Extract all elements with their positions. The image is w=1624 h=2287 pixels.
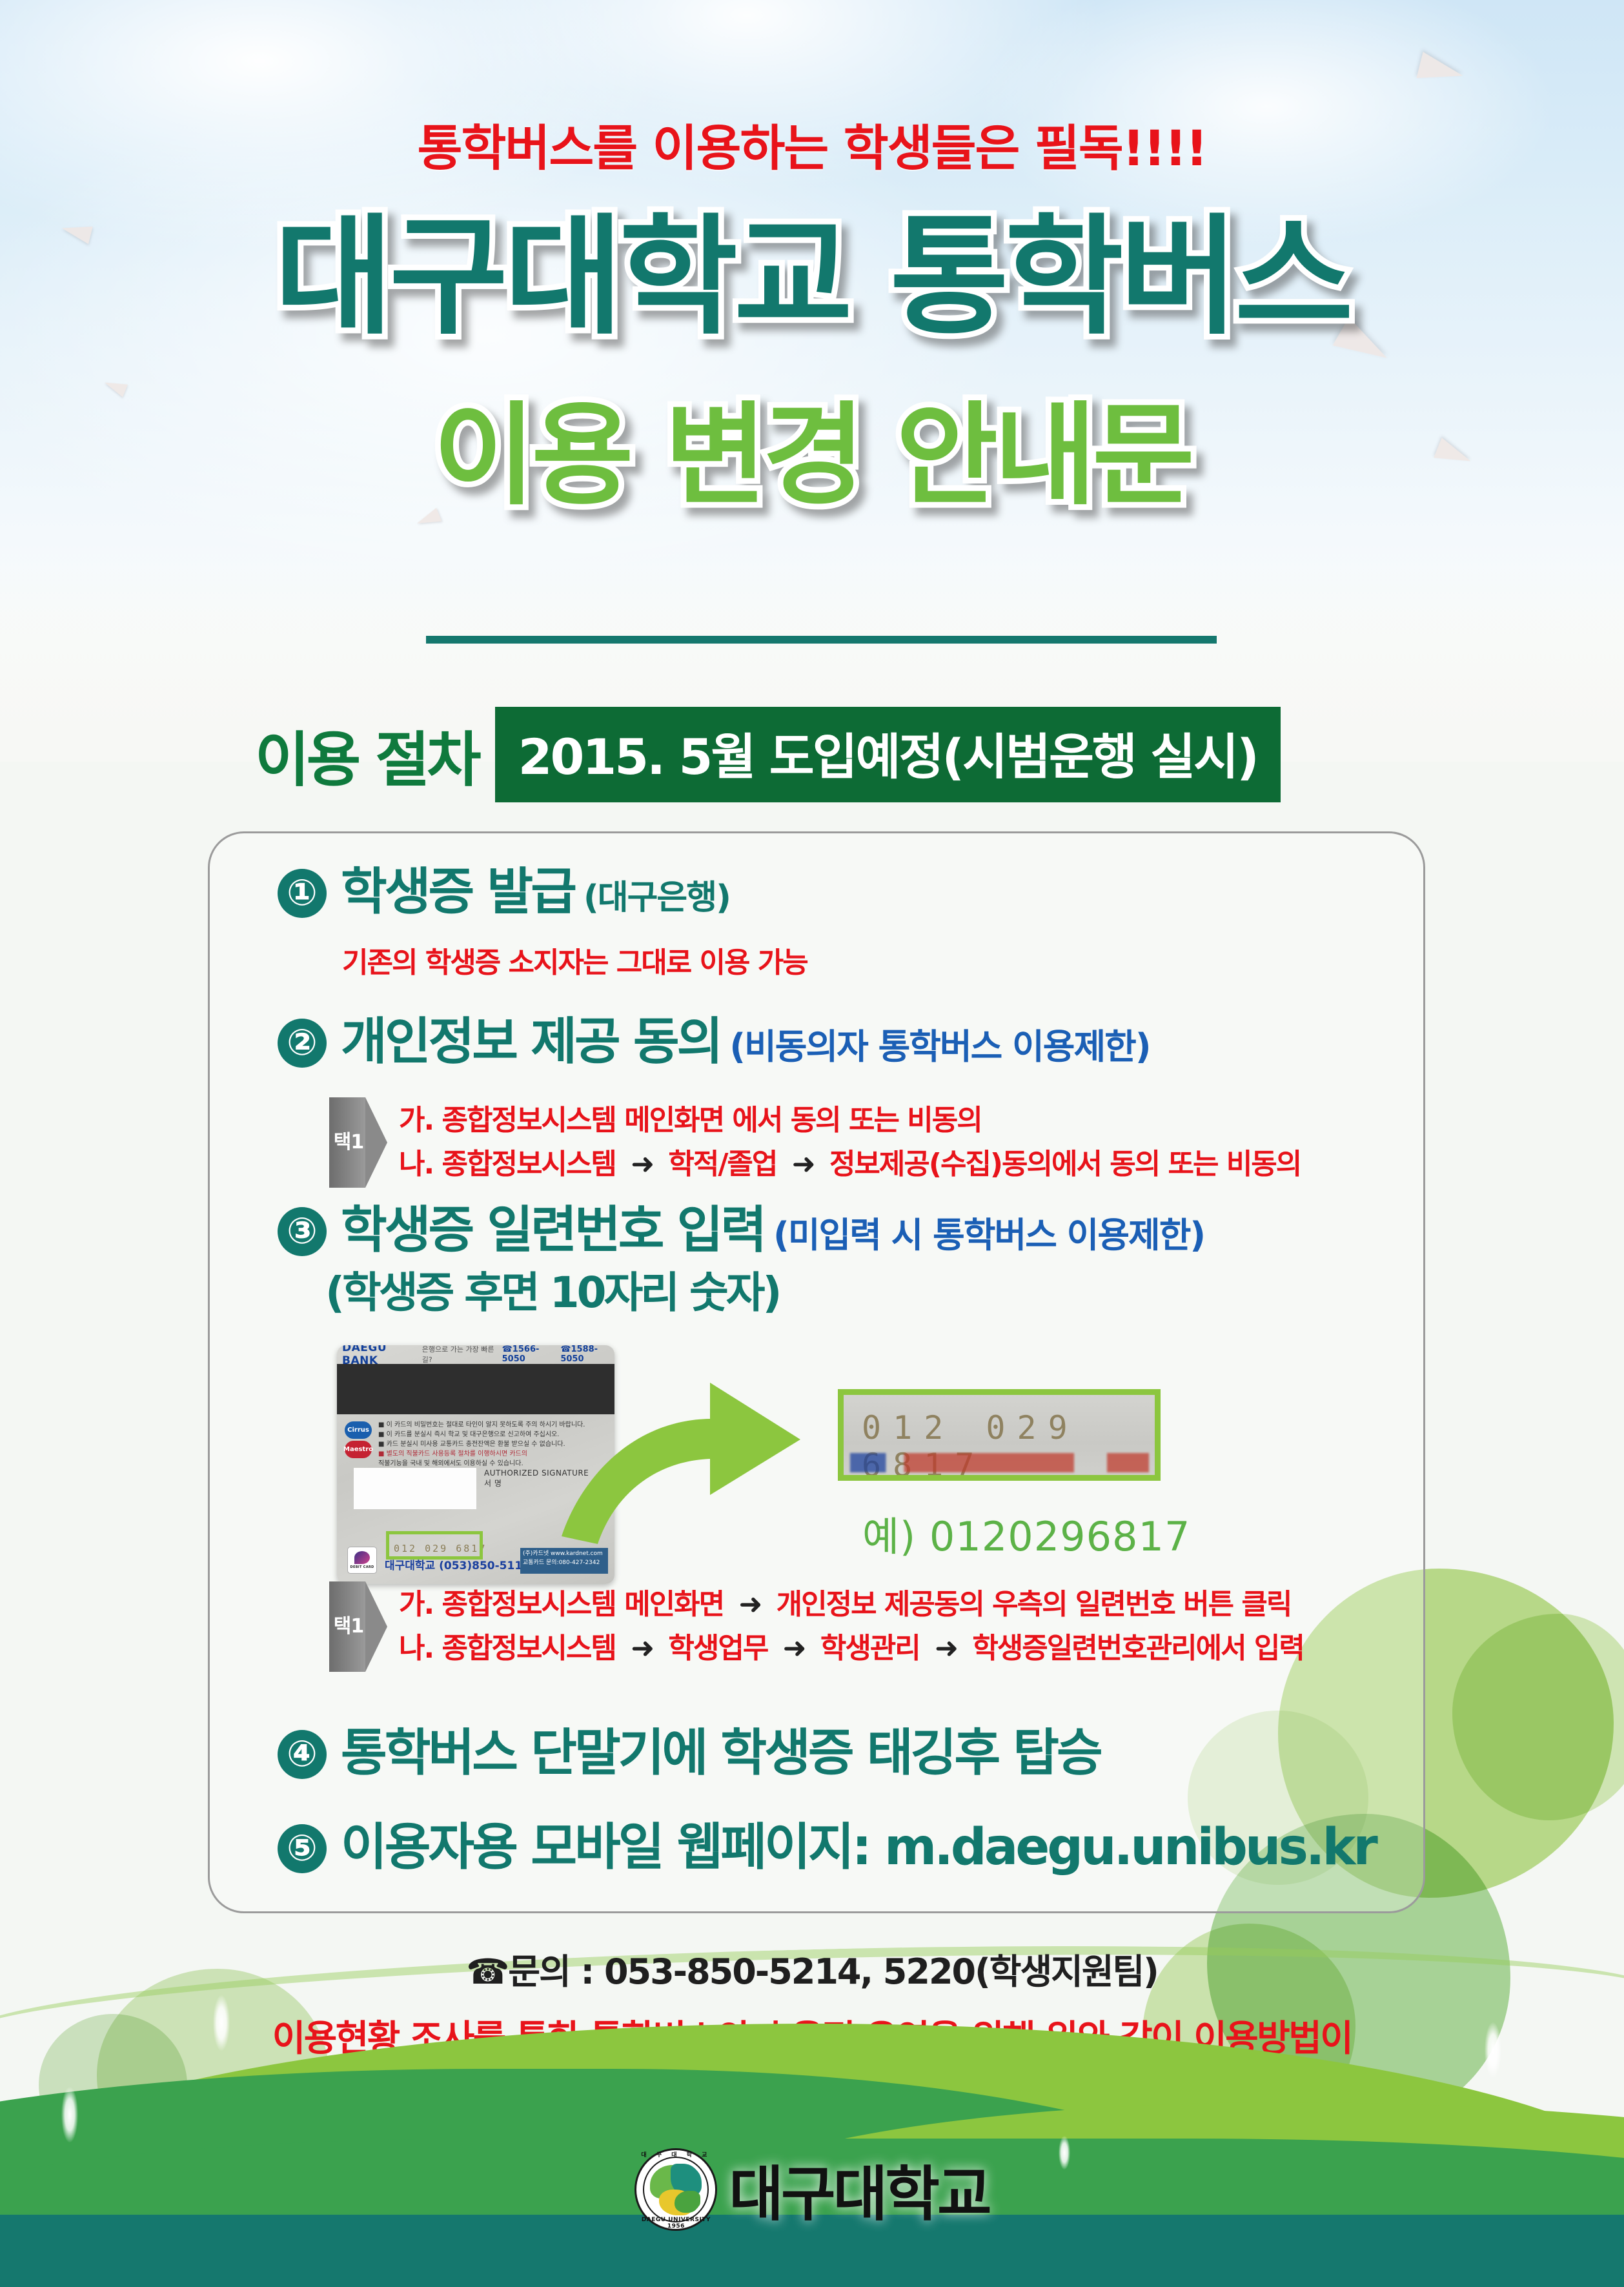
arrow-right-icon: ➜ [732,1588,767,1621]
cirrus-logo: Cirrus [345,1421,372,1439]
choice-2-line-b-part3: 학생관리 [820,1632,920,1665]
card-serial-highlight-box [386,1531,483,1560]
choice-1-line-a: 가. 종합정보시스템 메인화면 에서 동의 또는 비동의 [399,1099,1301,1143]
step-3-number: ③ [278,1207,327,1256]
step-4-number: ④ [278,1730,327,1779]
choice-2-line-b-part4: 학생증일련번호관리에서 입력 [972,1632,1304,1665]
serial-example-label: 예) 0120296817 [862,1504,1190,1562]
choice-1-line-b: 나. 종합정보시스템 ➜ 학적/졸업 ➜ 정보제공(수집)동의에서 동의 또는 … [399,1143,1301,1186]
poster-title-line2-text: 이용 변경 안내문 [433,400,1190,511]
step-5: ⑤ 이용자용 모바일 웹페이지: m.daegu.unibus.kr [278,1819,1375,1877]
debit-card-label: DEBIT CARD [350,1565,374,1569]
signature-box [354,1468,476,1509]
step-5-number: ⑤ [278,1824,327,1873]
university-name: 대구대학교 [729,2146,989,2232]
step-2-paren: (비동의자 통학버스 이용제한) [729,1018,1150,1069]
step-5-title: 이용자용 모바일 웹페이지: m.daegu.unibus.kr [341,1819,1375,1877]
choice-2-line-b-part2: 학생업무 [668,1632,767,1665]
step-3-subtitle: (학생증 후면 10자리 숫자) [325,1268,780,1317]
arrow-right-icon: ➜ [776,1632,812,1665]
maestro-logo: Maestro [345,1441,372,1458]
step-1: ① 학생증 발급 (대구은행) [278,864,730,922]
choice-2-line-a: 가. 종합정보시스템 메인화면 ➜ 개인정보 제공동의 우측의 일련번호 버튼 … [399,1583,1304,1627]
serial-zoom-blurred-line [850,1453,1149,1472]
choice-1-line-b-part2: 학적/졸업 [668,1148,776,1181]
emblem-korean-text: 대 구 대 학 교 [634,2150,717,2159]
choice-1-line-a-text: 가. 종합정보시스템 메인화면 에서 동의 또는 비동의 [399,1104,982,1137]
serial-zoom-callout: 012 029 6817 [838,1389,1161,1481]
step-3: ③ 학생증 일련번호 입력 (미입력 시 통학버스 이용제한) [278,1202,1204,1260]
step-1-number: ① [278,869,327,918]
choice-2-line-b-part1: 나. 종합정보시스템 [399,1632,616,1665]
arrow-right-icon: ➜ [786,1148,821,1181]
kicker-headline: 통학버스를 이용하는 학생들은 필독!!!! [0,108,1624,179]
choice-block-2: 택1 가. 종합정보시스템 메인화면 ➜ 개인정보 제공동의 우측의 일련번호 … [329,1581,1304,1672]
choice-1-line-b-part1: 나. 종합정보시스템 [399,1148,616,1181]
arrow-right-icon: ➜ [624,1632,660,1665]
card-university-line: 대구대학교 (053)850-5114 [385,1556,530,1572]
arrow-right-icon: ➜ [624,1148,660,1181]
step-2-number: ② [278,1019,327,1068]
choice-marker-arrow-icon: 택1 [329,1581,385,1672]
step-3-paren: (미입력 시 통학버스 이용제한) [773,1206,1204,1257]
university-emblem-icon: 대 구 대 학 교 DAEGU UNIVERSITY 1956 [634,2148,717,2231]
choice-marker-arrow-icon: 택1 [329,1097,385,1188]
choice-1-marker-top: 택 [334,1131,351,1154]
choice-1-marker-bottom: 1 [350,1131,363,1154]
section-header: 이용 절차 2015. 5월 도입예정(시범운행 실시) [255,707,1281,802]
step-1-title: 학생증 발급 [341,864,574,922]
kardnet-tel: 교통카드 문의:080-427-2342 [523,1559,605,1568]
step-2: ② 개인정보 제공 동의 (비동의자 통학버스 이용제한) [278,1013,1150,1072]
step-4: ④ 통학버스 단말기에 학생증 태깅후 탑승 [278,1725,1101,1783]
choice-2-line-a-part1: 가. 종합정보시스템 메인화면 [399,1588,724,1621]
step-4-title: 통학버스 단말기에 학생증 태깅후 탑승 [341,1725,1101,1783]
step-1-paren: (대구은행) [584,870,730,919]
poster-title-line1-text: 대구대학교 통학버스 [274,213,1350,342]
green-hills-background [0,1984,1624,2287]
choice-2-line-a-part2: 개인정보 제공동의 우측의 일련번호 버튼 클릭 [776,1588,1292,1621]
poster-root: 통학버스를 이용하는 학생들은 필독!!!! 대구대학교 통학버스 이용 변경 … [0,0,1624,2287]
choice-2-marker-bottom: 1 [350,1615,363,1638]
green-curved-arrow-icon [542,1343,878,1556]
debit-card-badge: DEBIT CARD [347,1547,377,1574]
card-network-logos: Cirrus Maestro [345,1421,373,1460]
section-label: 이용 절차 [255,712,478,798]
debit-swirl-icon [354,1551,370,1564]
bank-slogan: 은행으로 가는 가장 빠른 길? [422,1345,498,1365]
arrow-right-icon: ➜ [928,1632,964,1665]
poster-title-line1: 대구대학교 통학버스 [0,213,1624,342]
choice-2-line-b: 나. 종합정보시스템 ➜ 학생업무 ➜ 학생관리 ➜ 학생증일련번호관리에서 입… [399,1627,1304,1671]
choice-1-line-b-part3: 정보제공(수집)동의에서 동의 또는 비동의 [829,1148,1301,1181]
step-3-title: 학생증 일련번호 입력 [341,1202,764,1260]
step-2-title: 개인정보 제공 동의 [341,1013,720,1072]
choice-block-1: 택1 가. 종합정보시스템 메인화면 에서 동의 또는 비동의 나. 종합정보시… [329,1097,1301,1188]
emblem-english-text: DAEGU UNIVERSITY 1956 [634,2217,717,2230]
poster-title-line2: 이용 변경 안내문 [0,400,1624,511]
university-logo: 대 구 대 학 교 DAEGU UNIVERSITY 1956 대구대학교 [0,2146,1624,2232]
choice-2-marker-top: 택 [334,1615,351,1638]
step-1-red-note: 기존의 학생증 소지자는 그대로 이용 가능 [342,939,807,981]
section-badge: 2015. 5월 도입예정(시범운행 실시) [495,707,1281,802]
title-divider [426,636,1217,644]
